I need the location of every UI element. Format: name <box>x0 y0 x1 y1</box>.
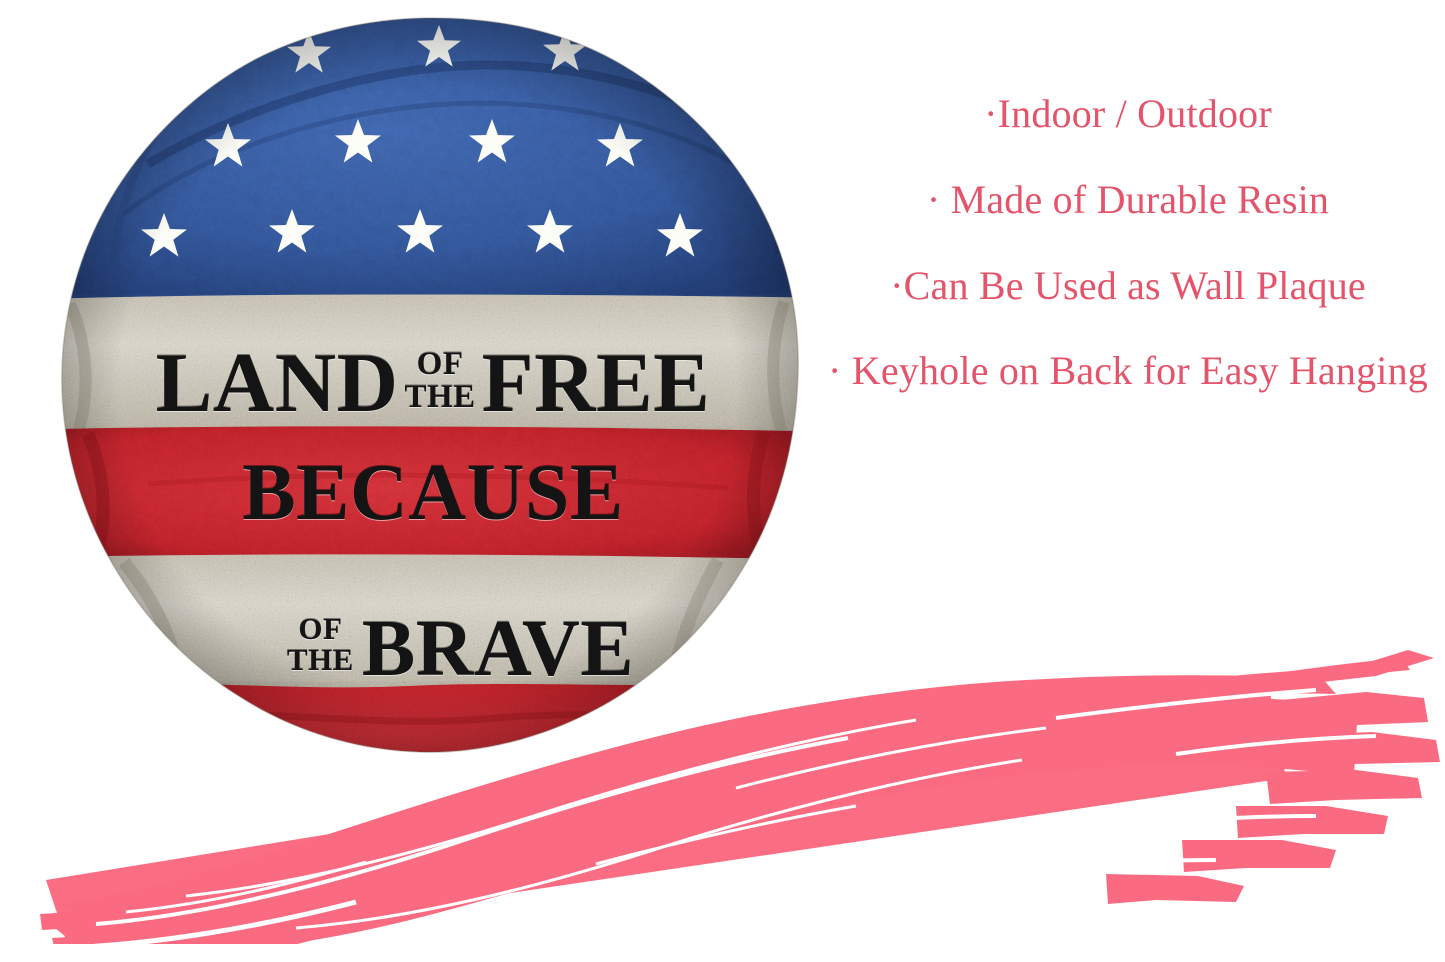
feature-item-keyhole-hanging: · Keyhole on Back for Easy Hanging <box>828 349 1428 394</box>
feature-item-wall-plaque: ·Can Be Used as Wall Plaque <box>828 264 1428 309</box>
feature-bullet-list: ·Indoor / Outdoor · Made of Durable Resi… <box>828 92 1428 394</box>
inscription-of-1: OF <box>417 348 464 381</box>
product-marketing-image: LAND OF THE FREE BECAUSE OF THE BRAVE ·I… <box>0 0 1445 962</box>
inscription-free: FREE <box>482 347 711 420</box>
inscription-because: BECAUSE <box>242 457 623 529</box>
inscription-the-1: THE <box>404 381 475 414</box>
inscription-line-2: BECAUSE <box>68 438 798 548</box>
inscription-line-1: LAND OF THE FREE <box>68 310 798 420</box>
inscription-land: LAND <box>156 347 399 420</box>
feature-item-indoor-outdoor: ·Indoor / Outdoor <box>828 92 1428 137</box>
feature-item-durable-resin: · Made of Durable Resin <box>828 178 1428 223</box>
inscription-of-the-1: OF THE <box>404 348 475 420</box>
pink-brush-stroke-accent <box>36 628 1445 944</box>
